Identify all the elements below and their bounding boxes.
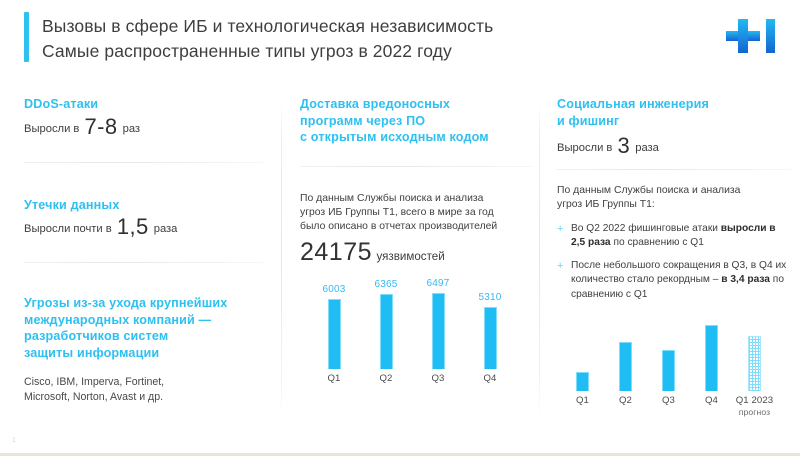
axis-tick-label: Q3	[412, 373, 464, 384]
vendor-brand-list-line-1: Cisco, IBM, Imperva, Fortinet,	[24, 375, 264, 390]
axis-tick-label: Q1 2023прогноз	[733, 395, 776, 417]
bar-value-label: 6497	[426, 278, 449, 289]
bar-column: 6365	[360, 279, 412, 369]
right-column: Социальная инженерия и фишинг Выросли в …	[557, 96, 792, 419]
ddos-stat-value: 7-8	[82, 114, 119, 139]
bar-column	[604, 342, 647, 391]
phishing-source-note: По данным Службы поиска и анализа угроз …	[557, 184, 792, 213]
data-leaks-stat-suffix: раза	[154, 223, 178, 235]
bar-value-label: 6003	[322, 284, 345, 295]
bar	[328, 299, 341, 369]
open-source-malware-heading-line-1: Доставка вредоносных	[300, 96, 532, 113]
vendor-exit-block: Угрозы из-за ухода крупнейших международ…	[24, 295, 264, 405]
axis-tick-label: Q2	[604, 395, 647, 406]
logo-plus-vertical	[738, 19, 748, 53]
ddos-block-heading: DDoS-атаки	[24, 96, 264, 113]
vendor-brand-list-line-2: Microsoft, Norton, Avast и др.	[24, 390, 264, 405]
vendor-exit-heading-line-1: Угрозы из-за ухода крупнейших	[24, 295, 264, 312]
vulnerabilities-chart-plot: 6003636564975310	[300, 273, 532, 369]
data-leaks-block-heading: Утечки данных	[24, 197, 264, 214]
axis-tick-sublabel: прогноз	[733, 407, 776, 417]
social-engineering-heading-line-2: и фишинг	[557, 113, 792, 130]
vulnerability-total-value: 24175	[300, 238, 372, 266]
phishing-chart-axis-labels: Q1Q2Q3Q4Q1 2023прогноз	[557, 395, 792, 419]
bar-column	[733, 336, 776, 391]
vendor-brand-list: Cisco, IBM, Imperva, Fortinet, Microsoft…	[24, 375, 264, 405]
bar-column	[690, 325, 733, 391]
axis-tick-label: Q3	[647, 395, 690, 406]
phishing-chart: Q1Q2Q3Q4Q1 2023прогноз	[557, 311, 792, 419]
social-engineering-stat-prefix: Выросли в	[557, 142, 612, 154]
ddos-stat: Выросли в 7-8 раз	[24, 120, 264, 136]
bullet-item: +Во Q2 2022 фишинговые атаки выросли в 2…	[557, 222, 792, 250]
mid-rule-1	[300, 166, 532, 167]
social-engineering-stat-suffix: раза	[635, 142, 659, 154]
social-engineering-heading-line-1: Социальная инженерия	[557, 96, 792, 113]
ddos-block: DDoS-атаки Выросли в 7-8 раз	[24, 96, 264, 136]
left-column: DDoS-атаки Выросли в 7-8 раз Утечки данн…	[24, 96, 264, 405]
bar-value-label: 6365	[374, 279, 397, 290]
vendor-exit-heading-line-4: защиты информации	[24, 345, 264, 362]
bullet-text-emphasis: в 3,4 раза	[721, 274, 770, 285]
axis-tick-label: Q4	[690, 395, 733, 406]
bullet-item: +После небольшого сокращения в Q3, в Q4 …	[557, 259, 792, 302]
column-divider-left	[281, 100, 282, 418]
open-source-malware-heading: Доставка вредоносных программ через ПО с…	[300, 96, 532, 146]
social-engineering-stat: Выросли в 3 раза	[557, 139, 792, 155]
data-leaks-stat: Выросли почти в 1,5 раза	[24, 220, 264, 236]
bar	[576, 372, 589, 391]
axis-tick-label: Q1	[308, 373, 360, 384]
bar	[484, 307, 497, 369]
phishing-chart-plot	[557, 311, 792, 391]
axis-tick-label: Q1	[561, 395, 604, 406]
column-divider-right	[539, 100, 540, 418]
open-source-malware-heading-line-2: программ через ПО	[300, 113, 532, 130]
left-rule-2	[24, 262, 264, 263]
logo-digit-one	[766, 19, 775, 53]
bullet-text-part-2: по сравнению с Q1	[611, 237, 704, 248]
bar	[705, 325, 718, 391]
vulnerability-total-unit: уязвимостей	[376, 250, 444, 263]
bar	[662, 350, 675, 391]
bar-column	[647, 350, 690, 391]
social-engineering-heading: Социальная инженерия и фишинг	[557, 96, 792, 129]
data-leaks-block: Утечки данных Выросли почти в 1,5 раза	[24, 197, 264, 237]
phishing-source-line-1: По данным Службы поиска и анализа	[557, 184, 792, 198]
vulnerability-source-line-1: По данным Службы поиска и анализа	[300, 192, 532, 206]
data-leaks-stat-prefix: Выросли почти в	[24, 223, 112, 235]
page-title: Вызовы в сфере ИБ и технологическая неза…	[42, 14, 682, 63]
bar-column: 5310	[464, 292, 516, 369]
middle-column: Доставка вредоносных программ через ПО с…	[300, 96, 532, 395]
page-title-line-1: Вызовы в сфере ИБ и технологическая неза…	[42, 14, 682, 39]
slide-root: Вызовы в сфере ИБ и технологическая неза…	[0, 0, 800, 456]
phishing-source-line-2: угроз ИБ Группы Т1:	[557, 198, 792, 212]
vulnerability-source-line-3: было описано в отчетах производителей	[300, 220, 532, 234]
header-accent-bar	[24, 12, 29, 62]
vendor-exit-heading-line-2: международных компаний —	[24, 312, 264, 329]
bar	[380, 294, 393, 369]
vendor-exit-heading: Угрозы из-за ухода крупнейших международ…	[24, 295, 264, 361]
bar-column: 6497	[412, 278, 464, 369]
bar	[432, 293, 445, 369]
vulnerability-source-line-2: угроз ИБ Группы Т1, всего в мире за год	[300, 206, 532, 220]
vulnerability-total: 24175 уязвимостей	[300, 238, 532, 267]
page-title-line-2: Самые распространенные типы угроз в 2022…	[42, 39, 682, 64]
axis-tick-label: Q4	[464, 373, 516, 384]
bar-value-label: 5310	[478, 292, 501, 303]
vulnerabilities-chart: 6003636564975310 Q1Q2Q3Q4	[300, 273, 532, 395]
left-rule-1	[24, 162, 264, 163]
slide-header: Вызовы в сфере ИБ и технологическая неза…	[0, 0, 800, 86]
ddos-stat-suffix: раз	[123, 123, 140, 135]
social-engineering-stat-value: 3	[615, 133, 632, 158]
right-rule-1	[557, 169, 792, 170]
axis-tick-label: Q2	[360, 373, 412, 384]
forecast-bar	[748, 336, 761, 391]
vendor-exit-heading-line-3: разработчиков систем	[24, 328, 264, 345]
phishing-bullet-list: +Во Q2 2022 фишинговые атаки выросли в 2…	[557, 222, 792, 302]
data-leaks-stat-value: 1,5	[115, 214, 151, 239]
plus-bullet-icon: +	[557, 222, 563, 236]
plus-one-logo-icon	[726, 14, 782, 60]
page-number: 1	[12, 437, 16, 444]
bar-column	[561, 372, 604, 391]
bullet-text-part-1: Во Q2 2022 фишинговые атаки	[571, 223, 721, 234]
ddos-stat-prefix: Выросли в	[24, 123, 79, 135]
plus-bullet-icon: +	[557, 259, 563, 273]
bar-column: 6003	[308, 284, 360, 369]
vulnerability-source-note: По данным Службы поиска и анализа угроз …	[300, 192, 532, 235]
bar	[619, 342, 632, 391]
open-source-malware-heading-line-3: с открытым исходным кодом	[300, 129, 532, 146]
vulnerabilities-chart-axis-labels: Q1Q2Q3Q4	[300, 373, 532, 395]
